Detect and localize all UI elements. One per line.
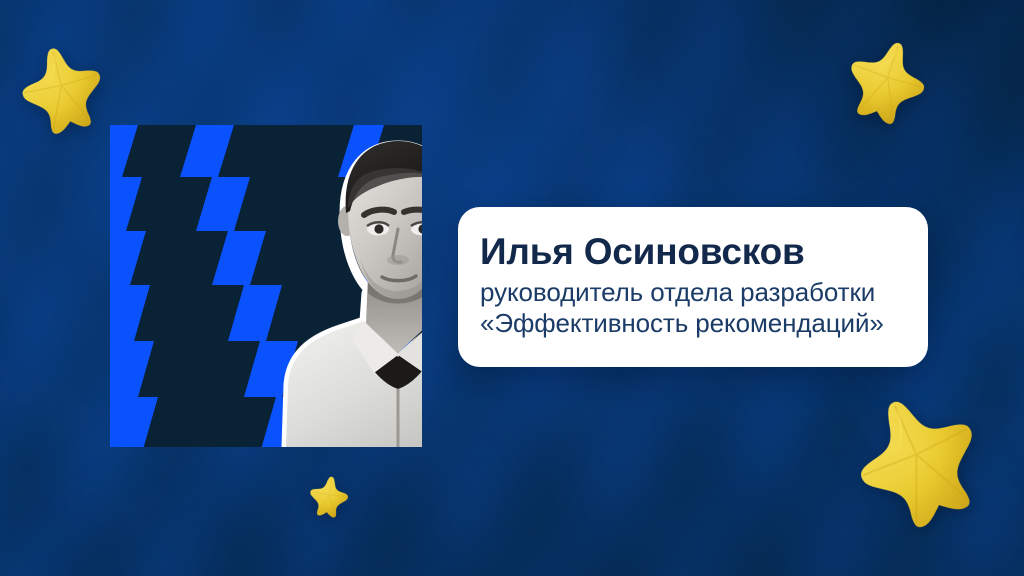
speaker-photo-card [110, 125, 422, 447]
speaker-role-line-2: «Эффективность рекомендаций» [480, 308, 906, 340]
speaker-slide: Илья Осиновсков руководитель отдела разр… [0, 0, 1024, 576]
speaker-name: Илья Осиновсков [480, 230, 906, 274]
speaker-role-line-1: руководитель отдела разработки [480, 277, 906, 309]
speaker-portrait [248, 125, 422, 447]
star-bottom-small [305, 472, 352, 519]
star-bottom-small-glyph [305, 472, 352, 519]
speaker-info-card: Илья Осиновсков руководитель отдела разр… [458, 207, 928, 367]
